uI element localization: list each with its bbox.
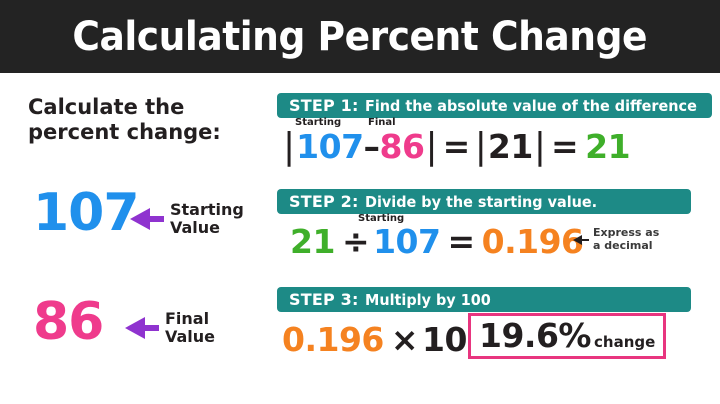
problem-prompt: Calculate the percent change: [28, 95, 258, 145]
starting-value-callout: Starting Value [130, 201, 244, 237]
final-value-number: 86 [33, 296, 103, 348]
final-answer-suffix: change [594, 333, 655, 351]
header-bar: Calculating Percent Change [0, 0, 720, 73]
final-answer-box: 19.6% change [468, 313, 666, 359]
step-3-times-operator: × [391, 323, 418, 356]
step-1-final-value: 86 [380, 130, 425, 163]
step-1-banner: STEP 1: Find the absolute value of the d… [277, 93, 712, 118]
left-arrow-icon [130, 208, 164, 230]
final-value-callout: Final Value [125, 310, 215, 346]
step-3-decimal-value: 0.196 [282, 323, 384, 356]
step-2-equals: = [447, 225, 474, 258]
express-as-decimal-text: Express as a decimal [593, 227, 659, 252]
step-1-equals-1: = [443, 130, 470, 163]
page-title: Calculating Percent Change [73, 17, 648, 57]
express-as-decimal-note: Express as a decimal [573, 227, 659, 252]
starting-value-label-line1: Starting [170, 200, 244, 219]
step-1-difference: 21 [488, 130, 533, 163]
step-2-starting-value: 107 [373, 225, 440, 258]
step-1-minus-operator: – [364, 130, 380, 163]
step-1-equals-2: = [551, 130, 578, 163]
step-2-difference: 21 [290, 225, 335, 258]
left-arrow-icon [125, 317, 159, 339]
step-1-abs-bar-open: | [283, 129, 295, 165]
final-value-label-line2: Value [165, 327, 215, 346]
problem-prompt-line2: percent change: [28, 120, 258, 145]
step-2-key: STEP 2: [289, 192, 359, 211]
step-2-result: 0.196 [482, 225, 584, 258]
step-2-description: Divide by the starting value. [365, 193, 597, 211]
step-1-result: 21 [585, 130, 630, 163]
step-1-abs-bar-close-2: | [534, 129, 546, 165]
step-2-banner: STEP 2: Divide by the starting value. [277, 189, 691, 214]
step-1-starting-value: 107 [296, 130, 363, 163]
starting-value-number: 107 [33, 187, 139, 239]
step-1-equation: | 107 – 86 | = | 21 | = 21 [282, 129, 630, 165]
step-3-description: Multiply by 100 [365, 291, 491, 309]
step-2-divide-operator: ÷ [342, 225, 369, 258]
percent-change-infographic: Calculating Percent Change Calculate the… [0, 0, 720, 404]
right-steps-panel: STEP 1: Find the absolute value of the d… [268, 73, 720, 404]
step-1-abs-bar-close: | [425, 129, 437, 165]
express-as-decimal-line1: Express as [593, 226, 659, 239]
final-value-label-line1: Final [165, 309, 209, 328]
left-arrow-small-icon [573, 235, 589, 245]
problem-prompt-line1: Calculate the [28, 95, 258, 120]
step-3-banner: STEP 3: Multiply by 100 [277, 287, 691, 312]
express-as-decimal-line2: a decimal [593, 239, 653, 252]
starting-value-label: Starting Value [170, 201, 244, 237]
step-3-key: STEP 3: [289, 290, 359, 309]
step-1-key: STEP 1: [289, 96, 359, 115]
final-value-label: Final Value [165, 310, 215, 346]
starting-value-label-line2: Value [170, 218, 220, 237]
left-problem-panel: Calculate the percent change: 107 Starti… [0, 73, 268, 404]
step-1-abs-bar-open-2: | [475, 129, 487, 165]
step-1-description: Find the absolute value of the differenc… [365, 97, 697, 115]
step-2-equation: 21 ÷ 107 = 0.196 [290, 225, 584, 258]
final-answer-value: 19.6% [479, 319, 591, 352]
